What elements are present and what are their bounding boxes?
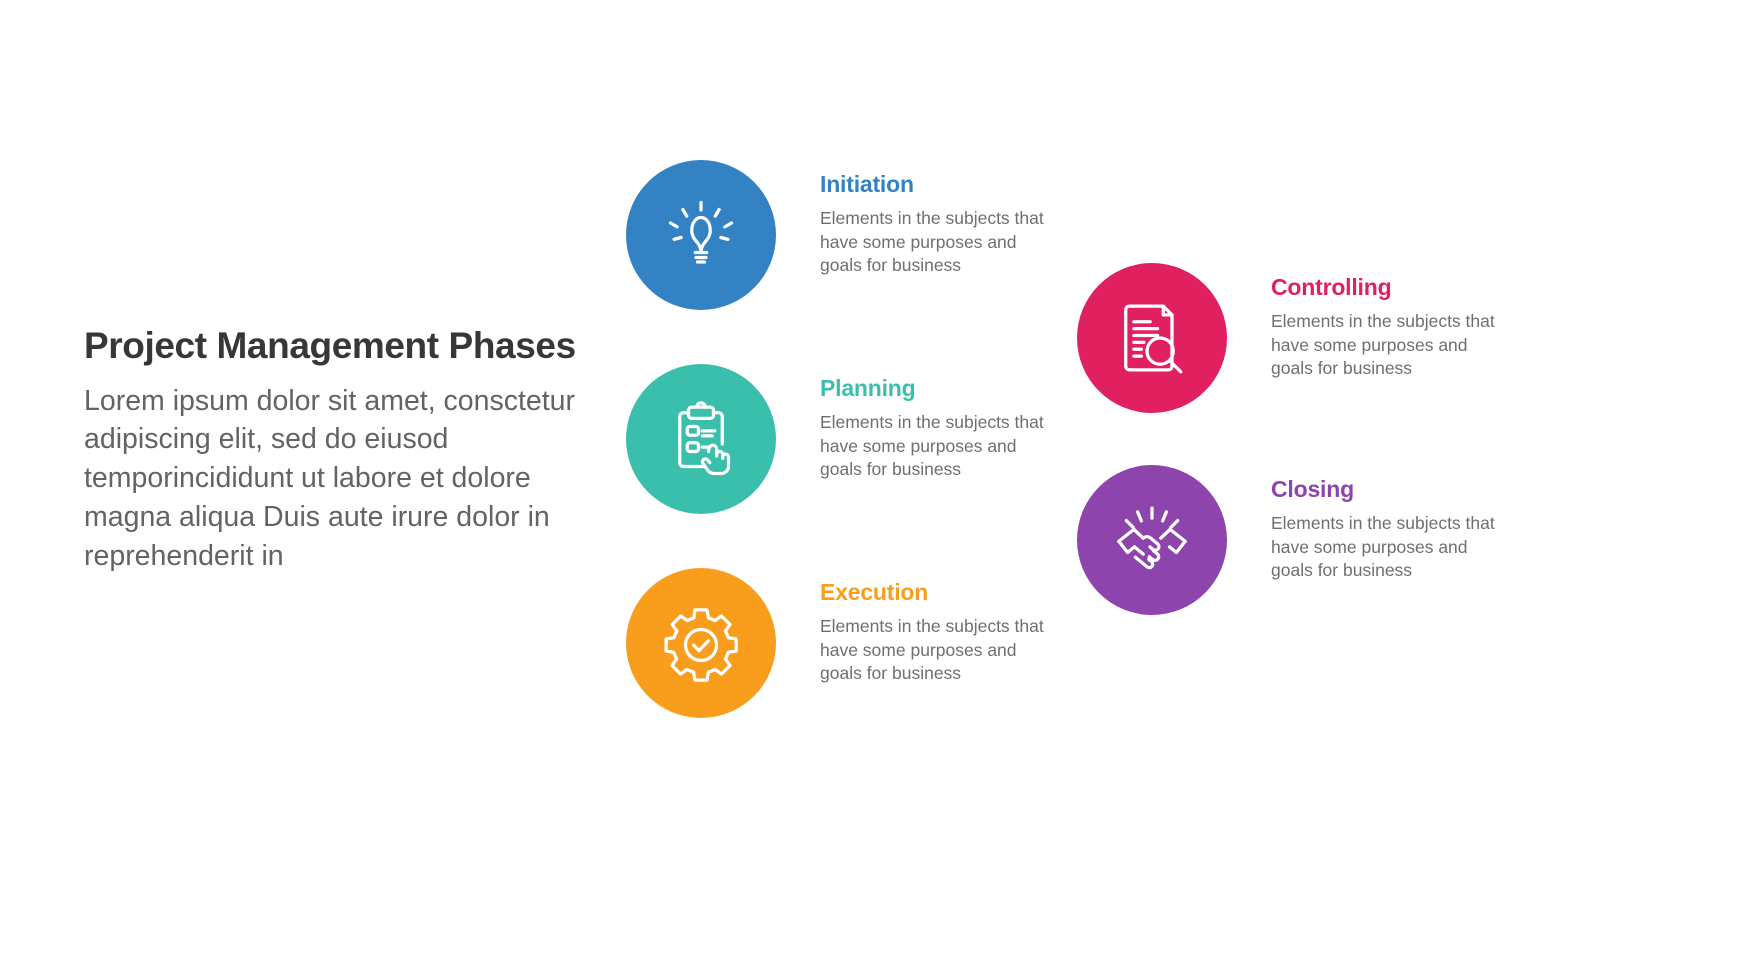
phase-title-controlling: Controlling (1271, 275, 1511, 300)
page-title: Project Management Phases (84, 325, 644, 368)
phase-title-closing: Closing (1271, 477, 1511, 502)
handshake-icon (1112, 500, 1192, 580)
phase-icon-badge-planning (626, 364, 776, 514)
intro-block: Project Management Phases Lorem ipsum do… (84, 325, 644, 575)
phase-item-controlling[interactable]: Controlling Elements in the subjects tha… (1077, 263, 1511, 413)
phase-title-initiation: Initiation (820, 172, 1050, 197)
phase-text-controlling: Controlling Elements in the subjects tha… (1271, 263, 1511, 380)
intro-description: Lorem ipsum dolor sit amet, consctetur a… (84, 382, 584, 576)
phase-icon-badge-controlling (1077, 263, 1227, 413)
phase-text-initiation: Initiation Elements in the subjects that… (820, 160, 1050, 277)
phase-item-planning[interactable]: Planning Elements in the subjects that h… (626, 364, 1050, 514)
phase-icon-badge-closing (1077, 465, 1227, 615)
gear-check-icon (661, 603, 741, 683)
phase-description-controlling: Elements in the subjects that have some … (1271, 310, 1511, 380)
lightbulb-icon (661, 195, 741, 275)
phase-item-initiation[interactable]: Initiation Elements in the subjects that… (626, 160, 1050, 310)
phase-icon-badge-execution (626, 568, 776, 718)
clipboard-hand-icon (661, 399, 741, 479)
infographic-canvas: Project Management Phases Lorem ipsum do… (0, 0, 1742, 980)
phase-icon-badge-initiation (626, 160, 776, 310)
phase-title-planning: Planning (820, 376, 1050, 401)
phase-description-initiation: Elements in the subjects that have some … (820, 207, 1050, 277)
document-search-icon (1112, 298, 1192, 378)
phase-description-closing: Elements in the subjects that have some … (1271, 512, 1511, 582)
phase-item-closing[interactable]: Closing Elements in the subjects that ha… (1077, 465, 1511, 615)
phase-text-closing: Closing Elements in the subjects that ha… (1271, 465, 1511, 582)
phase-text-execution: Execution Elements in the subjects that … (820, 568, 1050, 685)
phase-item-execution[interactable]: Execution Elements in the subjects that … (626, 568, 1050, 718)
phase-text-planning: Planning Elements in the subjects that h… (820, 364, 1050, 481)
phase-title-execution: Execution (820, 580, 1050, 605)
phase-description-planning: Elements in the subjects that have some … (820, 411, 1050, 481)
phase-description-execution: Elements in the subjects that have some … (820, 615, 1050, 685)
